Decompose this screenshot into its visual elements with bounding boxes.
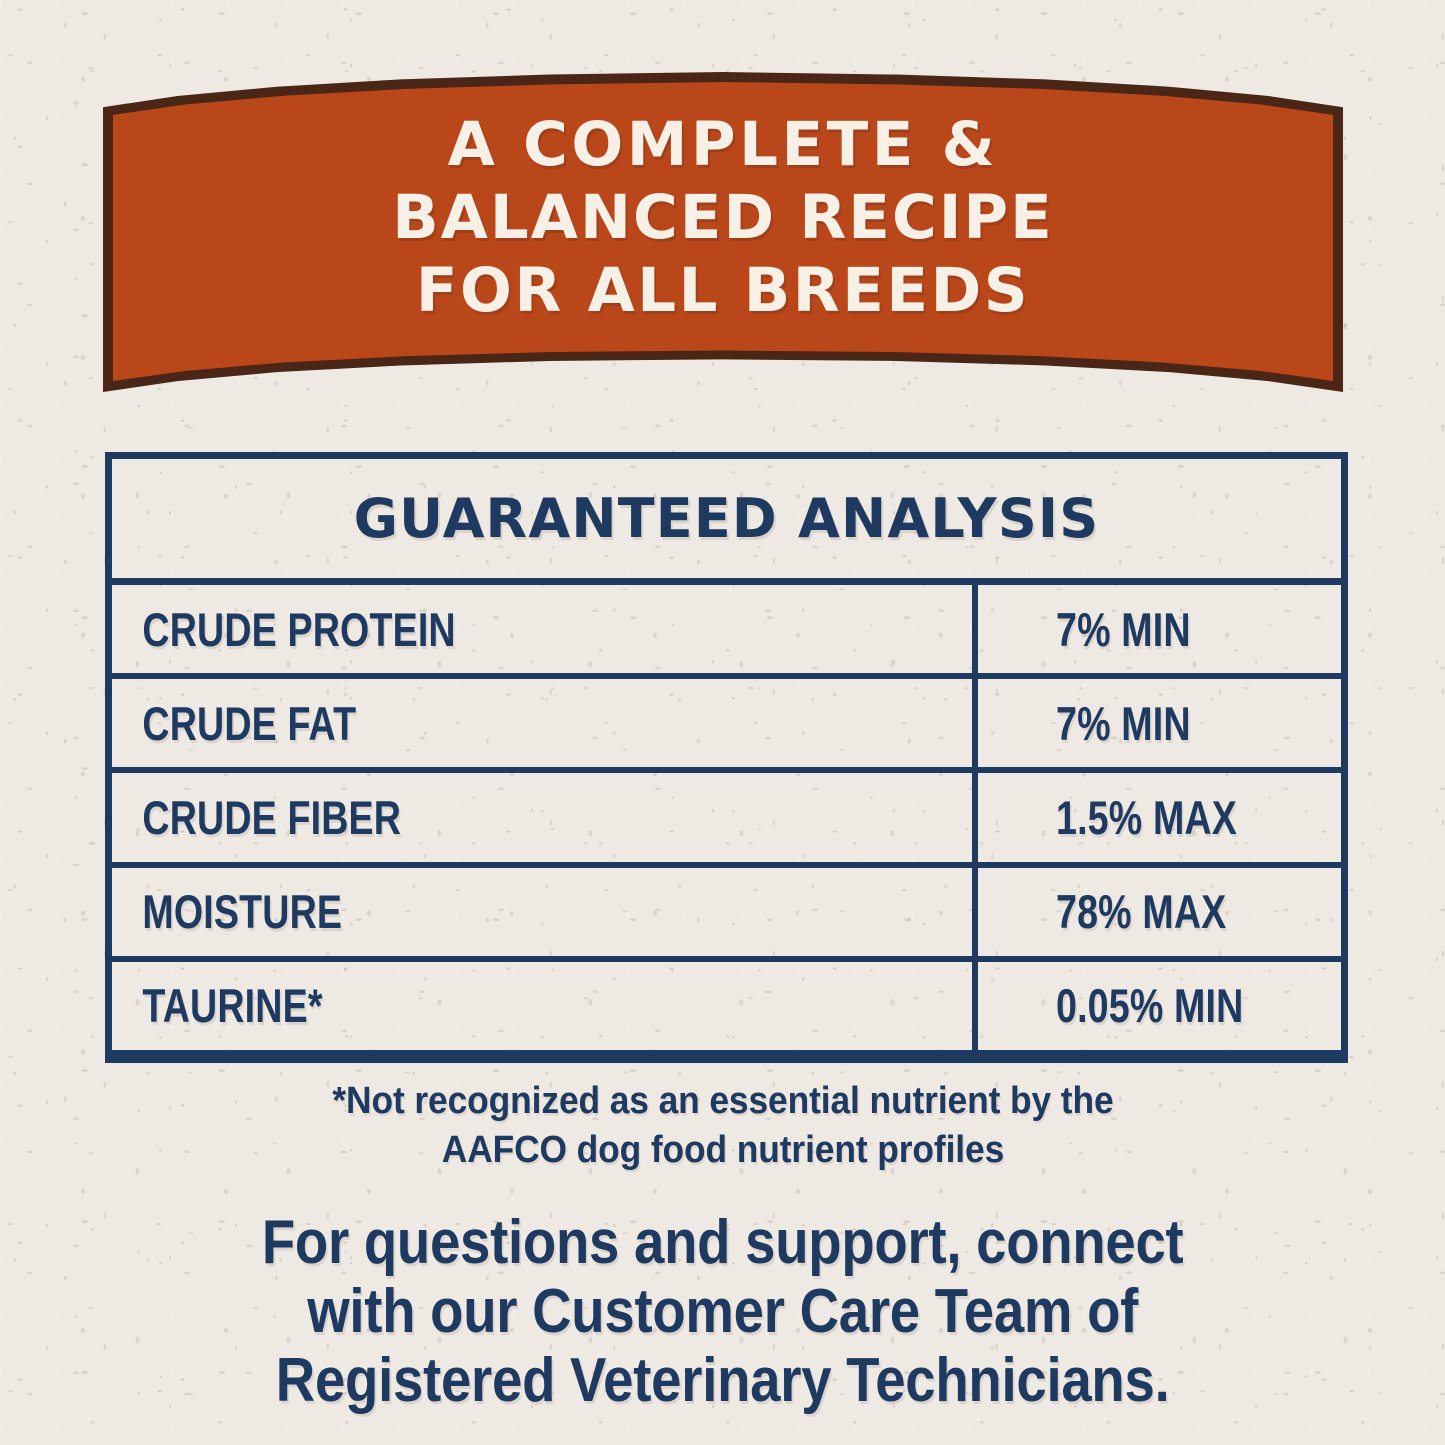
guaranteed-analysis-header: GUARANTEED ANALYSIS <box>112 459 1341 585</box>
nutrient-label: MOISTURE <box>112 868 800 956</box>
support-inner: For questions and support, connect with … <box>262 1208 1184 1415</box>
complete-balanced-banner: A COMPLETE & BALANCED RECIPE FOR ALL BRE… <box>103 72 1343 392</box>
table-row: CRUDE FAT 7% MIN <box>112 679 1341 773</box>
banner-line-1: A COMPLETE & <box>103 108 1343 181</box>
nutrient-label: CRUDE FAT <box>112 679 800 767</box>
nutrient-label: CRUDE PROTEIN <box>112 585 800 673</box>
customer-care-message: For questions and support, connect with … <box>110 1208 1335 1415</box>
nutrient-label: TAURINE* <box>112 962 800 1050</box>
guaranteed-analysis-title: GUARANTEED ANALYSIS <box>354 487 1100 550</box>
footnote-inner: *Not recognized as an essential nutrient… <box>332 1077 1113 1175</box>
support-line-2: with our Customer Care Team of <box>262 1277 1184 1346</box>
table-row: MOISTURE 78% MAX <box>112 868 1341 962</box>
nutrient-label: CRUDE FIBER <box>112 773 800 861</box>
banner-line-2: BALANCED RECIPE <box>103 181 1343 254</box>
nutrient-value: 78% MAX <box>972 868 1267 956</box>
nutrient-value: 1.5% MAX <box>972 773 1267 861</box>
support-line-1: For questions and support, connect <box>262 1208 1184 1277</box>
table-row: CRUDE FIBER 1.5% MAX <box>112 773 1341 867</box>
table-row: TAURINE* 0.05% MIN <box>112 962 1341 1056</box>
table-column-divider <box>972 585 978 1056</box>
footnote-line-2: AAFCO dog food nutrient profiles <box>332 1126 1113 1175</box>
guaranteed-analysis-body: CRUDE PROTEIN 7% MIN CRUDE FAT 7% MIN CR… <box>112 585 1341 1056</box>
nutrient-value: 7% MIN <box>972 679 1267 767</box>
taurine-footnote: *Not recognized as an essential nutrient… <box>120 1077 1325 1175</box>
banner-line-3: FOR ALL BREEDS <box>103 254 1343 327</box>
guaranteed-analysis-table: GUARANTEED ANALYSIS CRUDE PROTEIN 7% MIN… <box>105 452 1348 1063</box>
footnote-line-1: *Not recognized as an essential nutrient… <box>332 1077 1113 1126</box>
packaging-panel: A COMPLETE & BALANCED RECIPE FOR ALL BRE… <box>0 0 1445 1445</box>
nutrient-value: 7% MIN <box>972 585 1267 673</box>
banner-text-block: A COMPLETE & BALANCED RECIPE FOR ALL BRE… <box>103 108 1343 327</box>
table-row: CRUDE PROTEIN 7% MIN <box>112 585 1341 679</box>
nutrient-value: 0.05% MIN <box>972 962 1267 1050</box>
support-line-3: Registered Veterinary Technicians. <box>262 1346 1184 1415</box>
